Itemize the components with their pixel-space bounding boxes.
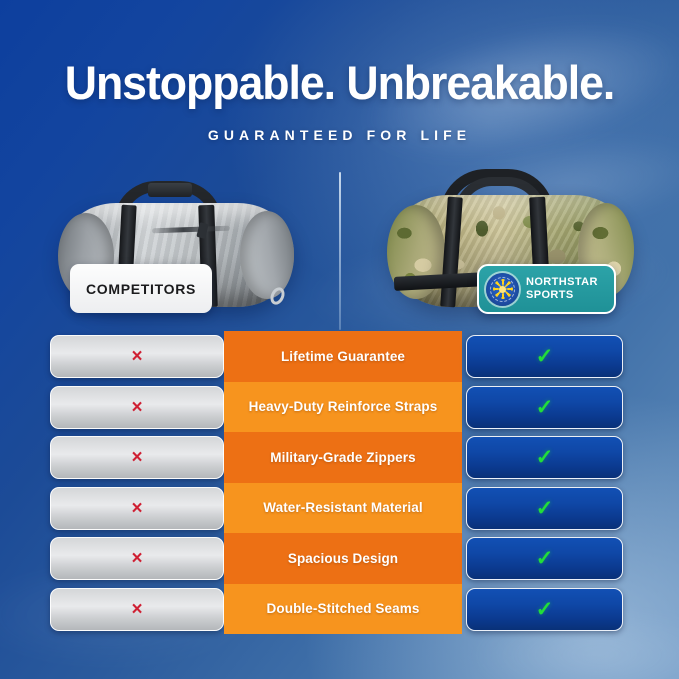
feature-cell: Spacious Design bbox=[224, 533, 462, 584]
infographic-canvas: Unstoppable. Unbreakable. GUARANTEED FOR… bbox=[0, 0, 679, 679]
handle-wrap bbox=[148, 183, 192, 197]
comparison-table: ×Lifetime Guarantee✓×Heavy-Duty Reinforc… bbox=[0, 331, 679, 634]
feature-label: Lifetime Guarantee bbox=[281, 349, 405, 364]
brand-name-line1: NORTHSTAR bbox=[526, 276, 598, 288]
brand-cell: ✓ bbox=[466, 335, 623, 378]
feature-cell: Heavy-Duty Reinforce Straps bbox=[224, 382, 462, 433]
page-title: Unstoppable. Unbreakable. bbox=[17, 58, 662, 108]
feature-label: Spacious Design bbox=[288, 551, 398, 566]
check-mark-icon: ✓ bbox=[536, 599, 554, 620]
table-row: ×Military-Grade Zippers✓ bbox=[0, 432, 679, 483]
brand-name: NORTHSTAR SPORTS bbox=[526, 276, 598, 303]
check-mark-icon: ✓ bbox=[536, 548, 554, 569]
x-mark-icon: × bbox=[131, 398, 142, 417]
bag-end-cap-right bbox=[240, 211, 294, 299]
check-mark-icon: ✓ bbox=[536, 447, 554, 468]
table-row: ×Water-Resistant Material✓ bbox=[0, 483, 679, 534]
brand-cell: ✓ bbox=[466, 588, 623, 631]
check-mark-icon: ✓ bbox=[536, 346, 554, 367]
page-subtitle: GUARANTEED FOR LIFE bbox=[0, 127, 679, 143]
brand-name-line2: SPORTS bbox=[526, 289, 574, 301]
competitors-label: COMPETITORS bbox=[70, 264, 212, 313]
compass-star-icon bbox=[486, 273, 519, 306]
x-mark-icon: × bbox=[131, 499, 142, 518]
feature-cell: Double-Stitched Seams bbox=[224, 584, 462, 635]
x-mark-icon: × bbox=[131, 448, 142, 467]
x-mark-icon: × bbox=[131, 600, 142, 619]
x-mark-icon: × bbox=[131, 347, 142, 366]
competitor-cell: × bbox=[50, 335, 224, 378]
table-row: ×Double-Stitched Seams✓ bbox=[0, 584, 679, 635]
feature-label: Heavy-Duty Reinforce Straps bbox=[249, 399, 438, 414]
feature-cell: Lifetime Guarantee bbox=[224, 331, 462, 382]
check-mark-icon: ✓ bbox=[536, 397, 554, 418]
check-mark-icon: ✓ bbox=[536, 498, 554, 519]
brand-cell: ✓ bbox=[466, 537, 623, 580]
feature-cell: Water-Resistant Material bbox=[224, 483, 462, 534]
brand-cell: ✓ bbox=[466, 487, 623, 530]
competitor-cell: × bbox=[50, 537, 224, 580]
x-mark-icon: × bbox=[131, 549, 142, 568]
feature-label: Double-Stitched Seams bbox=[267, 601, 420, 616]
competitors-label-text: COMPETITORS bbox=[86, 281, 196, 297]
competitor-cell: × bbox=[50, 436, 224, 479]
feature-cell: Military-Grade Zippers bbox=[224, 432, 462, 483]
brand-cell: ✓ bbox=[466, 436, 623, 479]
vertical-divider bbox=[339, 172, 341, 330]
competitor-cell: × bbox=[50, 487, 224, 530]
table-row: ×Spacious Design✓ bbox=[0, 533, 679, 584]
table-row: ×Lifetime Guarantee✓ bbox=[0, 331, 679, 382]
brand-cell: ✓ bbox=[466, 386, 623, 429]
star-burst-icon bbox=[493, 279, 513, 299]
brand-badge: NORTHSTAR SPORTS bbox=[477, 264, 616, 314]
feature-label: Military-Grade Zippers bbox=[270, 450, 416, 465]
feature-label: Water-Resistant Material bbox=[263, 500, 422, 515]
competitor-cell: × bbox=[50, 386, 224, 429]
competitor-cell: × bbox=[50, 588, 224, 631]
table-row: ×Heavy-Duty Reinforce Straps✓ bbox=[0, 382, 679, 433]
